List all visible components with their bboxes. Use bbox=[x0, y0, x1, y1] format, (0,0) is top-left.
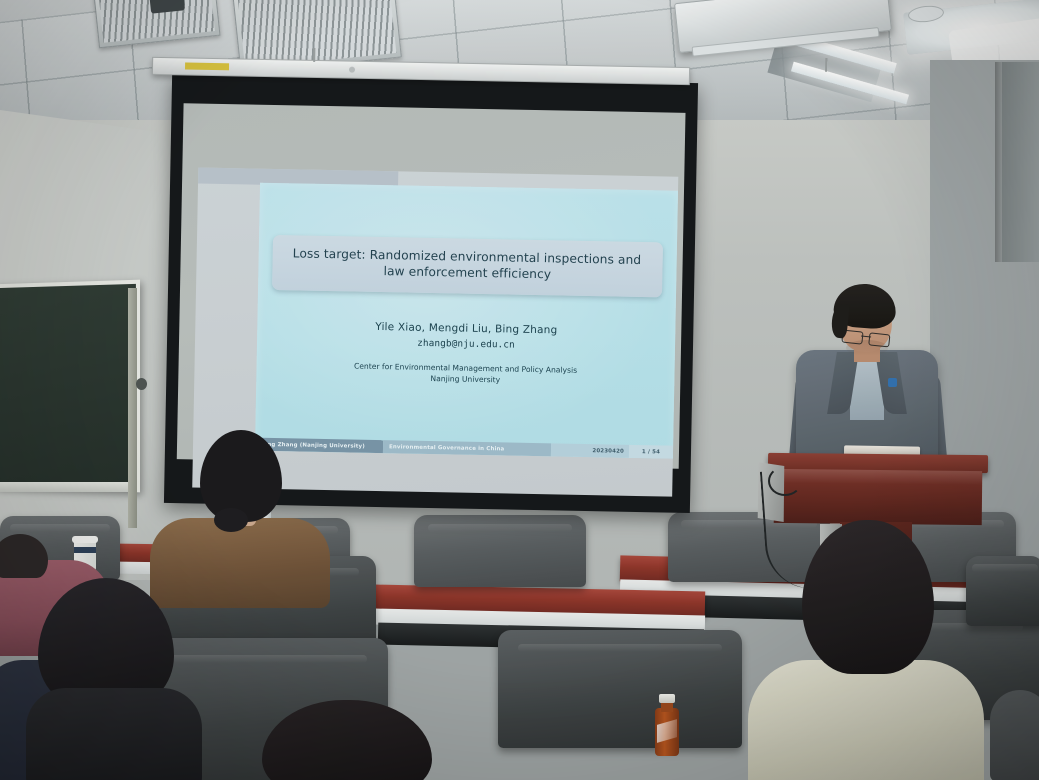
lecture-hall-photo: Loss target: Randomized environmental in… bbox=[0, 0, 1039, 780]
chalkboard bbox=[0, 280, 140, 493]
slide-footer-page: 1 / 54 bbox=[629, 445, 673, 459]
microphone-cable-loop bbox=[768, 466, 802, 496]
auditorium-chair[interactable] bbox=[498, 630, 742, 748]
wall-column bbox=[1002, 62, 1039, 262]
chalkboard-knob-icon bbox=[136, 378, 147, 390]
attendee-torso bbox=[990, 690, 1039, 780]
chalk-rail bbox=[0, 482, 134, 492]
attendee-hair bbox=[200, 430, 282, 522]
slide-title-box: Loss target: Randomized environmental in… bbox=[272, 235, 663, 298]
chalkboard-post bbox=[128, 288, 137, 528]
attendee-torso bbox=[26, 688, 202, 780]
list-item bbox=[740, 520, 990, 780]
attendee-hair bbox=[262, 700, 432, 780]
attendee-hair-bun bbox=[214, 508, 248, 532]
list-item bbox=[262, 700, 442, 780]
auditorium-chair[interactable] bbox=[414, 515, 586, 587]
roller-hook-icon bbox=[825, 58, 827, 72]
tea-bottle-icon bbox=[655, 694, 679, 756]
attendee-hair bbox=[0, 534, 48, 578]
attendee-cream-shirt bbox=[748, 660, 984, 780]
list-item bbox=[150, 430, 330, 590]
list-item bbox=[990, 690, 1039, 780]
attendee-hair bbox=[802, 520, 934, 674]
slide-footer-date: 20230420 bbox=[551, 443, 629, 457]
roller-sticker bbox=[185, 62, 229, 70]
roller-screw-icon bbox=[349, 67, 355, 73]
presenter-lapel-badge-icon bbox=[888, 378, 897, 387]
list-item bbox=[30, 578, 190, 780]
roller-hook-icon bbox=[313, 48, 315, 62]
screen-surface: Loss target: Randomized environmental in… bbox=[177, 103, 686, 469]
presentation-slide: Loss target: Randomized environmental in… bbox=[255, 183, 678, 459]
